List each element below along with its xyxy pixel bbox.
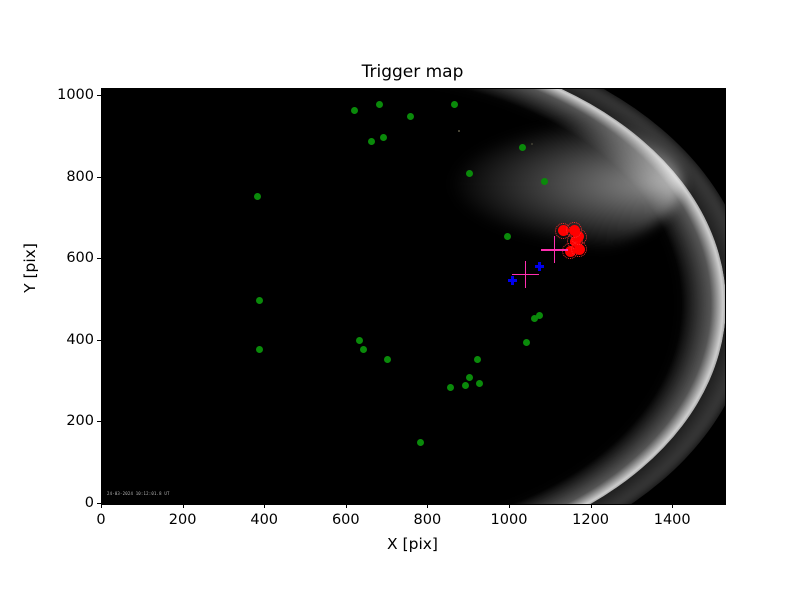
y-tick bbox=[97, 95, 101, 96]
y-tick-label: 1000 bbox=[57, 87, 94, 103]
x-tick bbox=[346, 504, 347, 508]
y-tick bbox=[97, 421, 101, 422]
y-axis-label: Y [pix] bbox=[21, 243, 39, 293]
y-tick bbox=[97, 503, 101, 504]
x-tick-label: 1000 bbox=[491, 512, 528, 528]
y-tick-label: 800 bbox=[66, 169, 94, 185]
x-tick bbox=[509, 504, 510, 508]
y-axis-ticks: 02004006008001000 bbox=[61, 88, 101, 503]
y-tick-label: 200 bbox=[66, 413, 94, 429]
background-image: 24-03-2024 10:12:01.8 UT bbox=[102, 89, 725, 504]
y-tick-label: 400 bbox=[66, 332, 94, 348]
x-tick-label: 1400 bbox=[654, 512, 691, 528]
limb-bright-spot bbox=[102, 89, 682, 279]
x-tick bbox=[672, 504, 673, 508]
x-axis-ticks: 0200400600800100012001400 bbox=[101, 504, 724, 534]
x-tick-label: 1200 bbox=[572, 512, 609, 528]
x-tick bbox=[183, 504, 184, 508]
y-tick bbox=[97, 177, 101, 178]
camera-timestamp: 24-03-2024 10:12:01.8 UT bbox=[107, 491, 170, 496]
x-tick-label: 800 bbox=[414, 512, 442, 528]
x-tick bbox=[427, 504, 428, 508]
y-tick-label: 600 bbox=[66, 250, 94, 266]
figure-canvas: Trigger map 24-03-2024 10:12:01.8 UT 020… bbox=[0, 0, 800, 600]
x-tick bbox=[101, 504, 102, 508]
x-tick-label: 0 bbox=[96, 512, 105, 528]
y-tick bbox=[97, 258, 101, 259]
faint-star bbox=[531, 143, 533, 145]
faint-star bbox=[458, 130, 460, 132]
page-title: Trigger map bbox=[101, 62, 724, 82]
y-tick-label: 0 bbox=[85, 495, 94, 511]
plot-axes[interactable]: 24-03-2024 10:12:01.8 UT bbox=[101, 88, 726, 505]
x-axis-label: X [pix] bbox=[101, 535, 724, 553]
y-tick bbox=[97, 340, 101, 341]
x-tick bbox=[591, 504, 592, 508]
x-tick-label: 400 bbox=[250, 512, 278, 528]
x-tick bbox=[264, 504, 265, 508]
x-tick-label: 200 bbox=[169, 512, 197, 528]
x-tick-label: 600 bbox=[332, 512, 360, 528]
